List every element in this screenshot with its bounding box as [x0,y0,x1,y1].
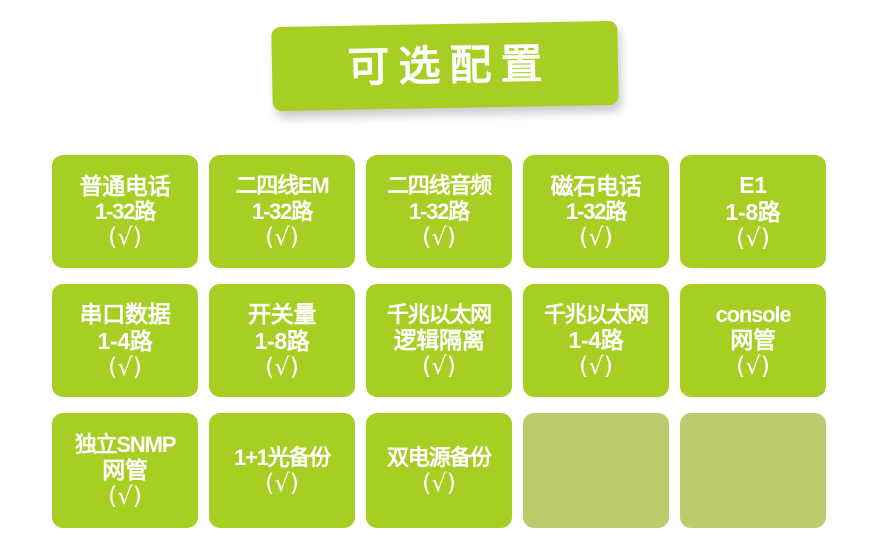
checkmark-icon: (√) [579,225,613,250]
page-title: 可选配置 [338,43,552,89]
feature-card-line: 1-32路 [252,199,312,225]
title-banner-wrapper: 可选配置 [272,24,618,108]
feature-card-line: 千兆以太网 [387,302,491,328]
feature-card-line: 普通电话 [80,173,171,200]
feature-card-line: 1-4路 [568,327,623,354]
feature-card-ersi-xian-em[interactable]: 二四线EM1-32路(√) [209,155,355,268]
feature-card-line: E1 [739,172,767,199]
checkmark-icon: (√) [422,354,456,379]
feature-card-qianzhao-yitaiwang-luoji-geli[interactable]: 千兆以太网逻辑隔离(√) [366,284,512,397]
feature-card-line: 1-32路 [409,199,469,225]
feature-card-line: 1+1光备份 [234,445,330,471]
checkmark-icon: (√) [736,226,770,251]
feature-card-line: console [716,302,791,328]
feature-card-line: 1-4路 [97,328,152,355]
feature-card-line: 1-32路 [566,199,626,225]
title-banner: 可选配置 [271,21,618,111]
feature-card-line: 独立SNMP [75,432,175,458]
feature-card-line: 1-8路 [725,199,780,226]
feature-card-kaiguanliang[interactable]: 开关量1-8路(√) [209,284,355,397]
checkmark-icon: (√) [108,484,142,509]
feature-card-line: 逻辑隔离 [394,327,485,354]
checkmark-icon: (√) [265,471,299,496]
feature-card-line: 串口数据 [80,301,171,328]
checkmark-icon: (√) [265,225,299,250]
feature-card-line: 千兆以太网 [544,302,648,328]
checkmark-icon: (√) [108,355,142,380]
feature-card-duli-snmp-wangguan[interactable]: 独立SNMP网管(√) [52,413,198,528]
checkmark-icon: (√) [108,225,142,250]
checkmark-icon: (√) [265,355,299,380]
feature-card-line: 1-32路 [95,199,155,225]
feature-card-chuankou-shuju[interactable]: 串口数据1-4路(√) [52,284,198,397]
feature-card-ersi-xian-yinpin[interactable]: 二四线音频1-32路(√) [366,155,512,268]
feature-card-line: 双电源备份 [387,445,491,471]
feature-card-cishi-dianhua[interactable]: 磁石电话1-32路(√) [523,155,669,268]
feature-card-line: 磁石电话 [551,173,642,200]
checkmark-icon: (√) [422,471,456,496]
empty-card [680,413,826,528]
feature-card-e1[interactable]: E11-8路(√) [680,155,826,268]
feature-card-putong-dianhua[interactable]: 普通电话1-32路(√) [52,155,198,268]
feature-card-grid: 普通电话1-32路(√)二四线EM1-32路(√)二四线音频1-32路(√)磁石… [52,155,828,528]
feature-card-line: 1-8路 [254,328,309,355]
checkmark-icon: (√) [579,354,613,379]
feature-card-qianzhao-yitaiwang-1-4[interactable]: 千兆以太网1-4路(√) [523,284,669,397]
feature-card-line: 网管 [102,457,147,484]
feature-card-line: 网管 [730,327,775,354]
checkmark-icon: (√) [422,225,456,250]
feature-card-console-wangguan[interactable]: console网管(√) [680,284,826,397]
feature-card-yi-jia-yi-guang-beifen[interactable]: 1+1光备份(√) [209,413,355,528]
feature-card-line: 二四线EM [235,173,328,199]
feature-card-shuang-dianyuan-beifen[interactable]: 双电源备份(√) [366,413,512,528]
empty-card [523,413,669,528]
feature-card-line: 开关量 [248,301,316,328]
feature-card-line: 二四线音频 [387,173,491,199]
checkmark-icon: (√) [736,354,770,379]
